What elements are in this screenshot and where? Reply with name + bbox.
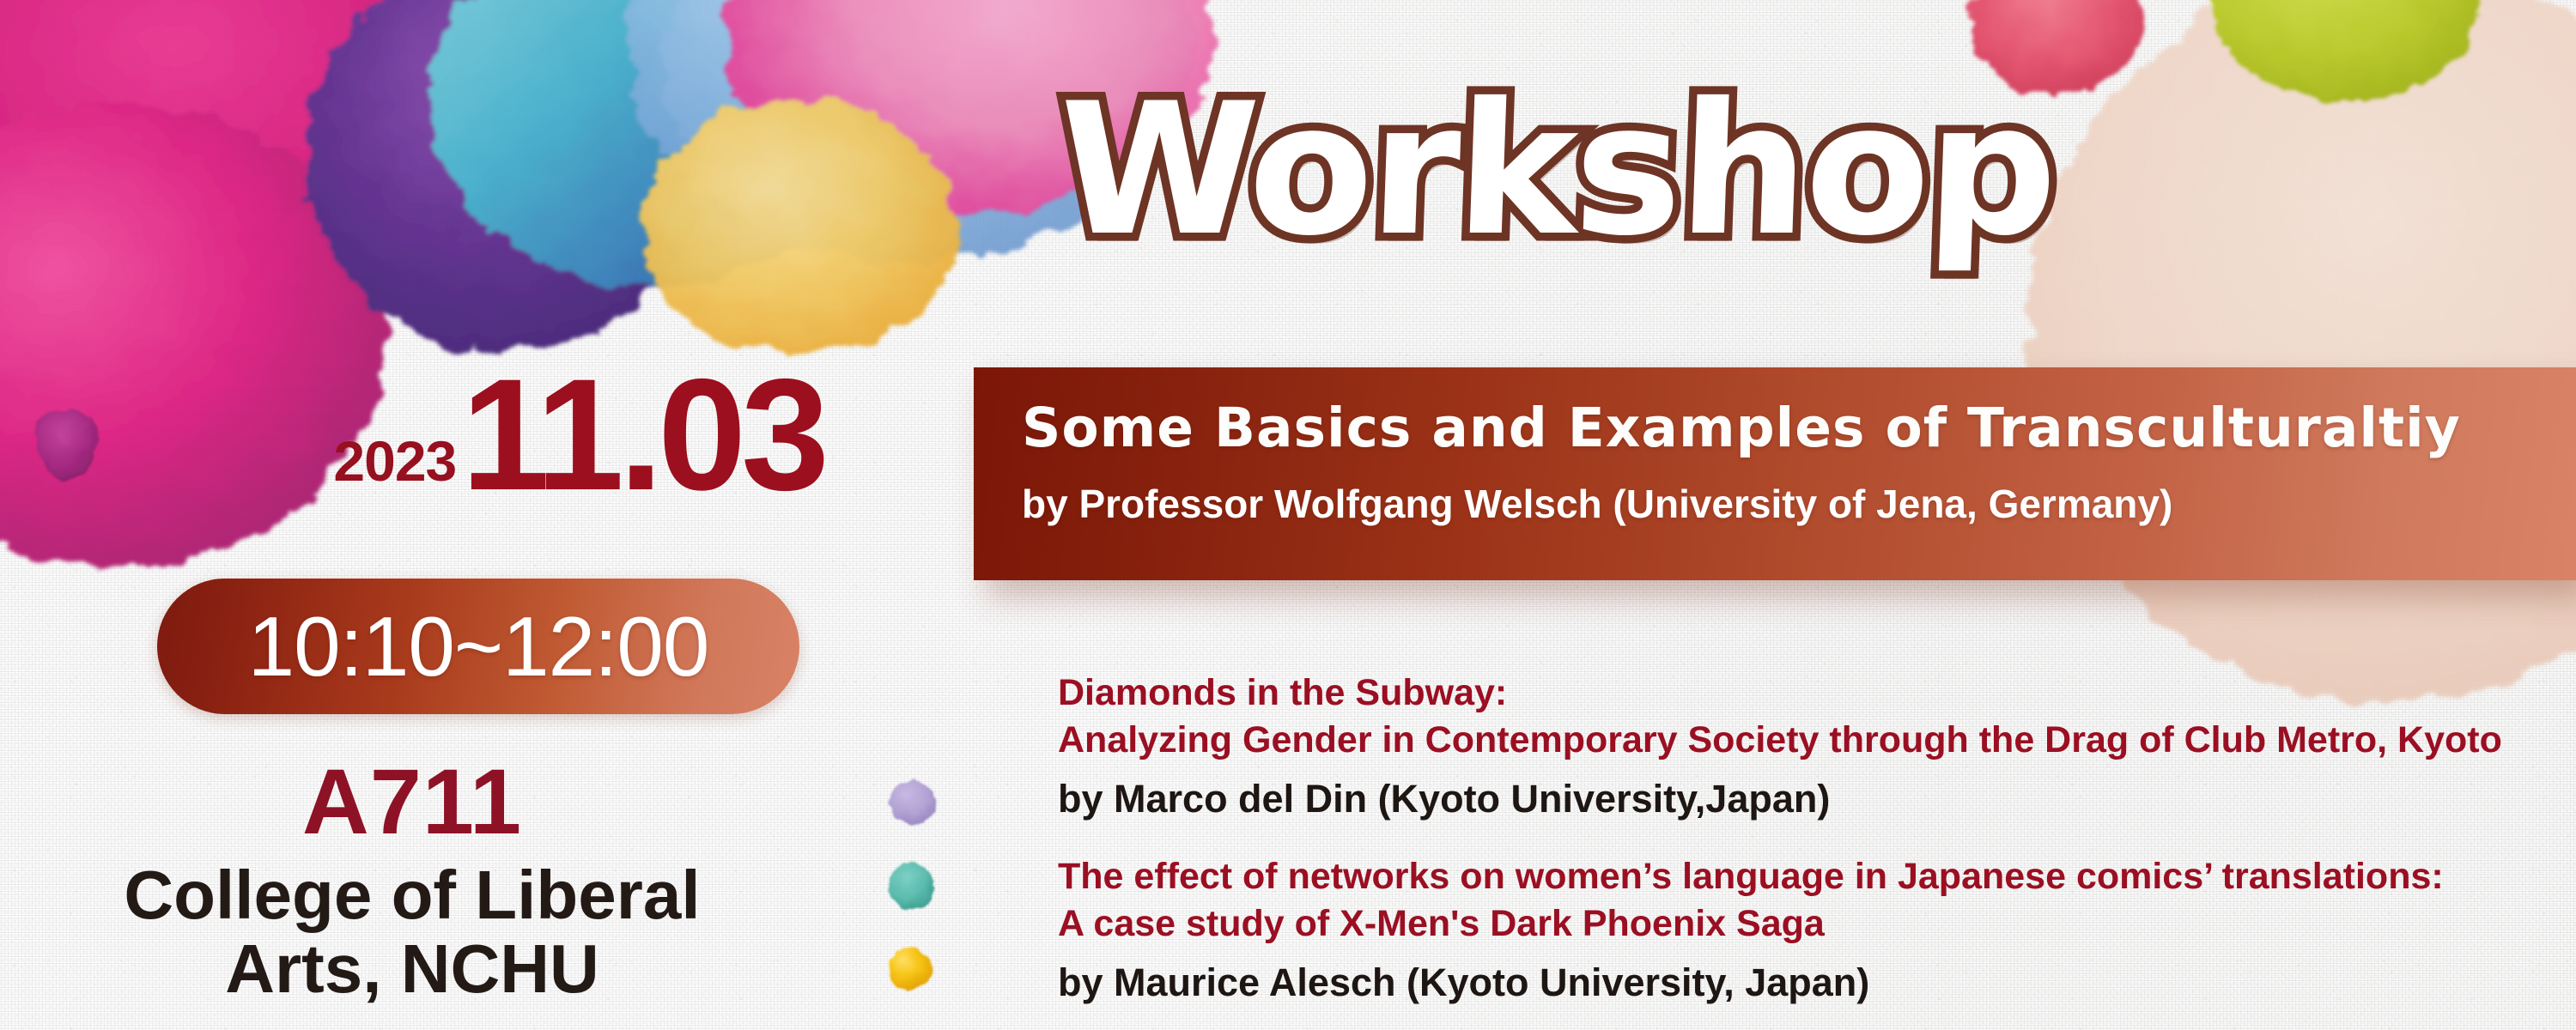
workshop-poster: 2023 11.03 10:10~12:00 A711 College of L…: [0, 0, 2576, 1030]
talk-title-line-2: Analyzing Gender in Contemporary Society…: [1058, 717, 2569, 764]
talk-title-line-2: A case study of X-Men's Dark Phoenix Sag…: [1058, 900, 2569, 948]
poster-heading: Workshop: [1058, 79, 2054, 261]
talk-speaker: by Maurice Alesch (Kyoto University, Jap…: [1058, 960, 2569, 1006]
talks-list: Diamonds in the Subway: Analyzing Gender…: [1058, 669, 2569, 1030]
keynote-title: Some Basics and Examples of Transcultura…: [1022, 400, 2576, 457]
poster-heading-text: Workshop: [1054, 79, 2057, 261]
event-year: 2023: [333, 433, 456, 501]
event-month-day: 11.03: [461, 371, 824, 501]
talk-item: Diamonds in the Subway: Analyzing Gender…: [1058, 669, 2569, 822]
keynote-speaker: by Professor Wolfgang Welsch (University…: [1022, 482, 2576, 526]
event-date: 2023 11.03: [0, 371, 824, 501]
talk-speaker: by Marco del Din (Kyoto University,Japan…: [1058, 776, 2569, 822]
event-time-text: 10:10~12:00: [248, 604, 709, 688]
talk-title-line-1: The effect of networks on women’s langua…: [1058, 853, 2569, 900]
talk-item: The effect of networks on women’s langua…: [1058, 853, 2569, 1006]
event-room-number: A711: [0, 755, 824, 848]
event-time-badge: 10:10~12:00: [157, 579, 799, 714]
keynote-banner: Some Basics and Examples of Transcultura…: [974, 367, 2576, 580]
venue-line-2: Arts, NCHU: [0, 932, 824, 1006]
venue-line-1: College of Liberal: [0, 858, 824, 932]
event-venue: College of Liberal Arts, NCHU: [0, 858, 824, 1007]
talk-title-line-1: Diamonds in the Subway:: [1058, 669, 2569, 717]
event-details-column: 2023 11.03 10:10~12:00 A711 College of L…: [0, 0, 859, 1030]
talk-title: Diamonds in the Subway: Analyzing Gender…: [1058, 669, 2569, 764]
talk-title: The effect of networks on women’s langua…: [1058, 853, 2569, 948]
